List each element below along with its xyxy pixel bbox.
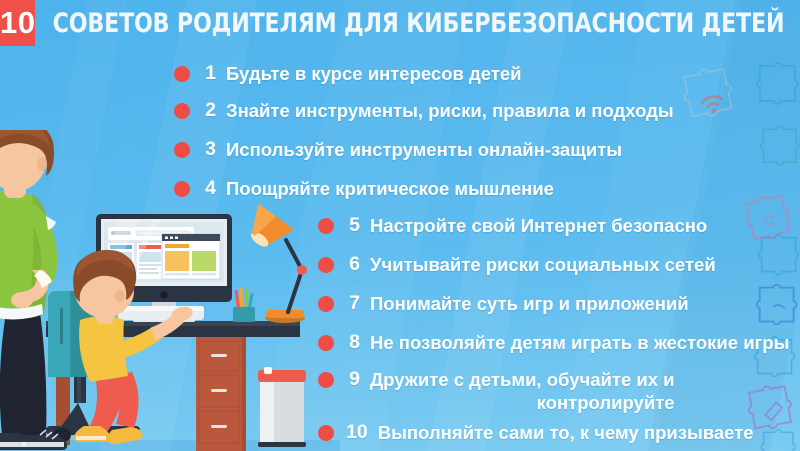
tip-number: 9 [346,368,360,391]
bullet-icon [174,103,190,119]
tip-item-2: 2 Знайте инструменты, риски, правила и п… [174,99,674,122]
tip-number: 5 [346,214,360,237]
tip-text: Поощряйте критическое мышление [226,177,554,200]
tip-text: Учитывайте риски социальных сетей [370,253,716,276]
tip-item-6: 6 Учитывайте риски социальных сетей [318,253,716,276]
page-title: СОВЕТОВ РОДИТЕЛЯМ ДЛЯ КИБЕРБЕЗОПАСНОСТИ … [35,0,788,46]
tip-item-9: 9 Дружите с детьми, обучайте их и контро… [318,368,675,414]
count-badge: 10 [0,0,35,46]
bullet-icon [318,296,334,312]
bullet-icon [318,425,334,441]
bullet-icon [174,142,190,158]
tip-number: 7 [346,292,360,315]
tip-number: 10 [346,421,368,444]
tip-text-continued: контролируйте [370,391,675,414]
tip-item-7: 7 Понимайте суть игр и приложений [318,292,689,315]
tip-item-8: 8 Не позволяйте детям играть в жестокие … [318,331,789,354]
bullet-icon [318,257,334,273]
tip-text: Дружите с детьми, обучайте их и [370,369,675,390]
tip-text: Используйте инструменты онлайн-защиты [226,138,622,161]
infographic-canvas: 10 СОВЕТОВ РОДИТЕЛЯМ ДЛЯ КИБЕРБЕЗОПАСНОС… [0,0,800,451]
tip-text: Настройте свой Интернет безопасно [370,214,707,237]
tip-item-10: 10 Выполняйте сами то, к чему призываете [318,421,754,444]
bullet-icon [318,372,334,388]
tips-list: 1 Будьте в курсе интересов детей 2 Знайт… [0,46,800,451]
bullet-icon [174,66,190,82]
tip-number: 3 [202,138,216,161]
tip-text-group: Дружите с детьми, обучайте их и контроли… [370,368,675,414]
tip-item-4: 4 Поощряйте критическое мышление [174,177,554,200]
tip-number: 6 [346,253,360,276]
tip-text: Будьте в курсе интересов детей [226,62,522,85]
tip-number: 1 [202,62,216,85]
tip-item-3: 3 Используйте инструменты онлайн-защиты [174,138,622,161]
tip-number: 4 [202,177,216,200]
tip-text: Знайте инструменты, риски, правила и под… [226,99,674,122]
tip-number: 8 [346,331,360,354]
header-bar: 10 СОВЕТОВ РОДИТЕЛЯМ ДЛЯ КИБЕРБЕЗОПАСНОС… [0,0,800,46]
tip-text: Не позволяйте детям играть в жестокие иг… [370,331,789,354]
bullet-icon [174,181,190,197]
bullet-icon [318,335,334,351]
bullet-icon [318,218,334,234]
tip-text: Понимайте суть игр и приложений [370,292,689,315]
tip-item-5: 5 Настройте свой Интернет безопасно [318,214,707,237]
tip-item-1: 1 Будьте в курсе интересов детей [174,62,522,85]
tip-number: 2 [202,99,216,122]
tip-text: Выполняйте сами то, к чему призываете [378,421,754,444]
